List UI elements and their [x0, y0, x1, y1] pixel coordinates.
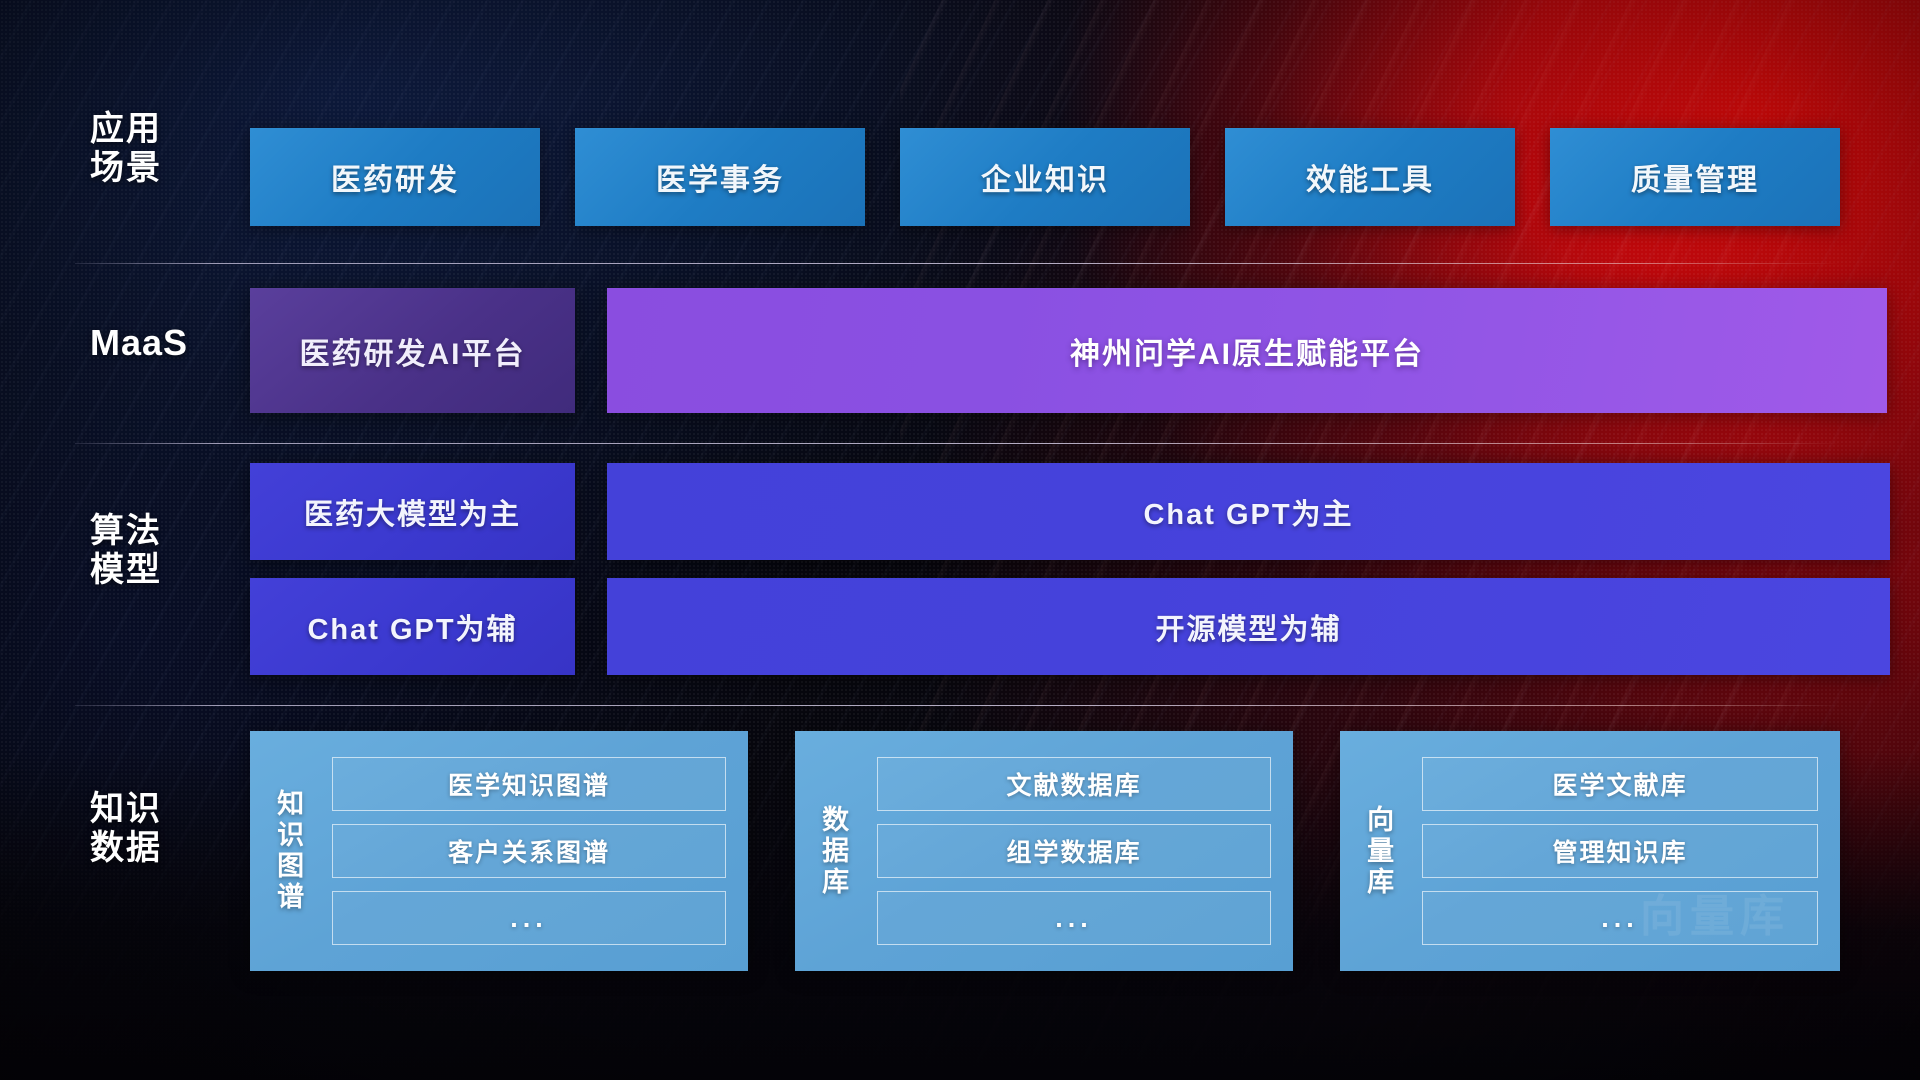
knowledge-item-more[interactable]: ... [877, 891, 1271, 945]
diagram-canvas: 应用 场景 医药研发 医学事务 企业知识 效能工具 质量管理 MaaS 医药研发… [0, 0, 1920, 1080]
row-maas: 医药研发AI平台 神州问学AI原生赋能平台 [250, 288, 1840, 413]
maas-platform-box-shenzhou[interactable]: 神州问学AI原生赋能平台 [607, 288, 1887, 413]
divider-1 [75, 263, 1840, 264]
algo-box-label: 开源模型为辅 [1155, 606, 1341, 648]
row-application-scenario: 医药研发 医学事务 企业知识 效能工具 质量管理 [250, 128, 1840, 226]
knowledge-item[interactable]: 管理知识库 [1422, 824, 1818, 878]
row-label-application-scenario: 应用 场景 [90, 110, 270, 188]
knowledge-panel-items: 医学知识图谱 客户关系图谱 ... [326, 731, 748, 971]
knowledge-item-more[interactable]: ... [332, 891, 726, 945]
divider-3 [75, 705, 1840, 706]
scene-box-label: 医学事务 [656, 155, 784, 199]
algo-box-chatgpt-primary[interactable]: Chat GPT为主 [607, 463, 1890, 560]
row-label-knowledge-data: 知识 数据 [90, 790, 270, 868]
scene-box-label: 企业知识 [981, 155, 1109, 199]
row-label-line1: 知识 [90, 790, 270, 829]
algo-box-chatgpt-secondary[interactable]: Chat GPT为辅 [250, 578, 575, 675]
row-label-line2: 模型 [90, 551, 270, 590]
maas-platform-label: 医药研发AI平台 [300, 329, 526, 373]
scene-box-label: 质量管理 [1631, 155, 1759, 199]
row-label-line1: 应用 [90, 110, 270, 149]
knowledge-item[interactable]: 文献数据库 [877, 757, 1271, 811]
knowledge-item[interactable]: 组学数据库 [877, 824, 1271, 878]
maas-platform-label: 神州问学AI原生赋能平台 [1070, 329, 1424, 373]
knowledge-panel-vector[interactable]: 向量库 医学文献库 管理知识库 ... [1340, 731, 1840, 971]
knowledge-panel-graph[interactable]: 知识图谱 医学知识图谱 客户关系图谱 ... [250, 731, 748, 971]
knowledge-panel-label: 知识图谱 [250, 731, 326, 971]
knowledge-panel-items: 医学文献库 管理知识库 ... [1416, 731, 1840, 971]
knowledge-item-more[interactable]: ... [1422, 891, 1818, 945]
algo-box-label: Chat GPT为主 [1143, 491, 1353, 533]
row-label-line1: 算法 [90, 512, 270, 551]
knowledge-item[interactable]: 医学文献库 [1422, 757, 1818, 811]
scene-box-label: 效能工具 [1306, 155, 1434, 199]
knowledge-item-label: ... [510, 903, 548, 934]
scene-box-label: 医药研发 [331, 155, 459, 199]
divider-2 [75, 443, 1840, 444]
knowledge-item-label: 文献数据库 [1006, 766, 1141, 802]
maas-platform-box-pharma[interactable]: 医药研发AI平台 [250, 288, 575, 413]
algo-box-label: 医药大模型为主 [304, 491, 521, 533]
row-knowledge-data: 知识图谱 医学知识图谱 客户关系图谱 ... 数据库 文献数据库 [250, 731, 1840, 971]
knowledge-item-label: 医学文献库 [1552, 766, 1687, 802]
knowledge-item[interactable]: 客户关系图谱 [332, 824, 726, 878]
knowledge-panel-label: 数据库 [795, 731, 871, 971]
algo-box-label: Chat GPT为辅 [307, 606, 517, 648]
row-label-algorithm-model: 算法 模型 [90, 512, 270, 590]
knowledge-item-label: 组学数据库 [1006, 833, 1141, 869]
knowledge-item[interactable]: 医学知识图谱 [332, 757, 726, 811]
scene-box-0[interactable]: 医药研发 [250, 128, 540, 226]
knowledge-panel-label: 向量库 [1340, 731, 1416, 971]
scene-box-4[interactable]: 质量管理 [1550, 128, 1840, 226]
knowledge-item-label: ... [1055, 903, 1093, 934]
algo-box-pharma-primary[interactable]: 医药大模型为主 [250, 463, 575, 560]
row-algorithm-model: 医药大模型为主 Chat GPT为主 Chat GPT为辅 开源模型为辅 [250, 463, 1840, 671]
knowledge-item-label: ... [1601, 903, 1639, 934]
knowledge-item-label: 医学知识图谱 [448, 766, 610, 802]
knowledge-panel-database[interactable]: 数据库 文献数据库 组学数据库 ... [795, 731, 1293, 971]
scene-box-1[interactable]: 医学事务 [575, 128, 865, 226]
scene-box-3[interactable]: 效能工具 [1225, 128, 1515, 226]
row-label-line2: 数据 [90, 829, 270, 868]
row-label-line2: 场景 [90, 149, 270, 188]
scene-box-2[interactable]: 企业知识 [900, 128, 1190, 226]
knowledge-panel-items: 文献数据库 组学数据库 ... [871, 731, 1293, 971]
knowledge-item-label: 管理知识库 [1552, 833, 1687, 869]
algo-box-opensource-secondary[interactable]: 开源模型为辅 [607, 578, 1890, 675]
knowledge-item-label: 客户关系图谱 [448, 833, 610, 869]
